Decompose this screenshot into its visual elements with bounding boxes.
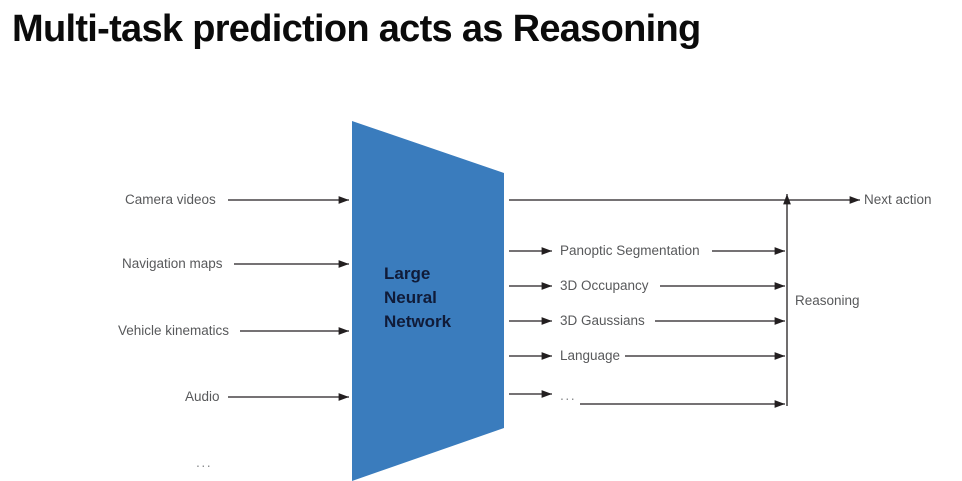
input-arrows <box>228 200 349 397</box>
input-ellipsis: ... <box>196 455 212 469</box>
input-label-audio: Audio <box>185 390 220 404</box>
output-stub-arrows <box>509 251 552 394</box>
slide-root: Multi-task prediction acts as Reasoning <box>0 0 962 481</box>
input-label-navigation-maps: Navigation maps <box>122 257 223 271</box>
neural-network-block-label: Large Neural Network <box>384 262 451 334</box>
input-label-vehicle-kinematics: Vehicle kinematics <box>118 324 229 338</box>
output-label-panoptic-segmentation: Panoptic Segmentation <box>560 244 700 258</box>
output-label-language: Language <box>560 349 620 363</box>
output-label-3d-occupancy: 3D Occupancy <box>560 279 649 293</box>
input-label-camera-videos: Camera videos <box>125 193 216 207</box>
reasoning-label: Reasoning <box>795 294 860 308</box>
output-label-3d-gaussians: 3D Gaussians <box>560 314 645 328</box>
diagram-canvas <box>0 0 962 481</box>
output-ellipsis: ... <box>560 388 576 402</box>
next-action-label: Next action <box>864 193 932 207</box>
